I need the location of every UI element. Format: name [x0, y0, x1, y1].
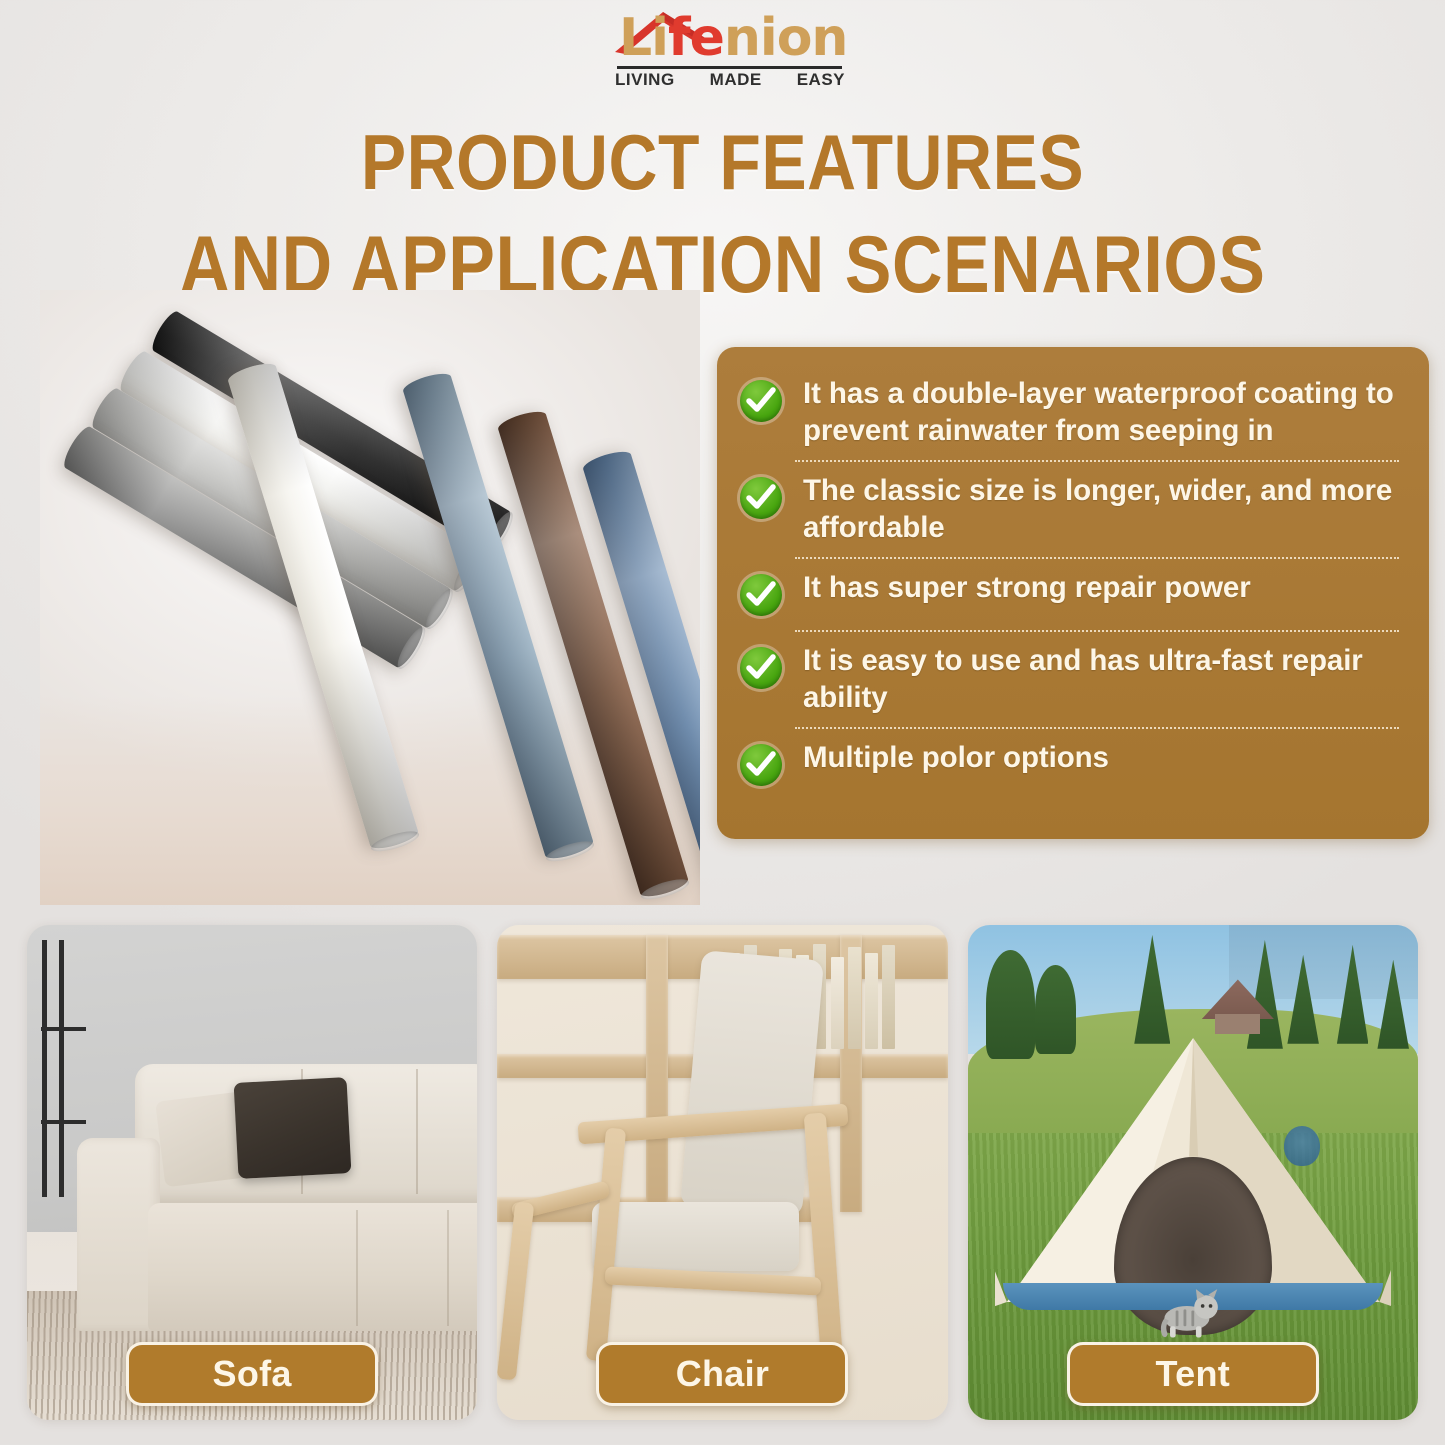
- brand-logo: Lifenion LIVING MADE EASY: [595, 4, 860, 100]
- logo-letters-nion: nion: [724, 8, 848, 68]
- tagline-word-1: LIVING: [615, 70, 675, 90]
- feature-item: It has super strong repair power: [735, 557, 1405, 630]
- feature-item: Multiple polor options: [735, 727, 1405, 800]
- scene-card-tent: Tent: [968, 925, 1418, 1420]
- logo-letter-l: L: [619, 8, 651, 68]
- scene-label-chair: Chair: [596, 1342, 848, 1406]
- check-icon: [737, 474, 785, 522]
- feature-text: It has super strong repair power: [803, 568, 1251, 606]
- scene-card-sofa: Sofa: [27, 925, 477, 1420]
- logo-divider: [617, 66, 842, 69]
- logo-letter-i: i: [651, 8, 668, 68]
- feature-item: It has a double-layer waterproof coating…: [735, 363, 1405, 460]
- logo-letters-fe: fe: [668, 8, 724, 68]
- logo-text: Lifenion: [619, 10, 847, 66]
- tagline-word-3: EASY: [797, 70, 845, 90]
- feature-item: The classic size is longer, wider, and m…: [735, 460, 1405, 557]
- chair-backrest: [680, 950, 824, 1217]
- title-line-1: PRODUCT FEATURES: [0, 118, 1445, 206]
- dark-throw-pillow: [233, 1077, 351, 1179]
- cat: [1152, 1272, 1220, 1351]
- check-icon: [737, 571, 785, 619]
- tagline-word-2: MADE: [710, 70, 762, 90]
- feature-text: The classic size is longer, wider, and m…: [803, 471, 1401, 546]
- application-scenes: Sofa: [27, 925, 1418, 1420]
- check-icon: [737, 644, 785, 692]
- feature-item: It is easy to use and has ultra-fast rep…: [735, 630, 1405, 727]
- chair-rear-leg: [803, 1113, 843, 1381]
- feature-text: It is easy to use and has ultra-fast rep…: [803, 641, 1401, 716]
- chair-left-leg: [497, 1202, 534, 1381]
- check-icon: [737, 741, 785, 789]
- cabin-wall: [1215, 1014, 1260, 1034]
- scene-card-chair: Chair: [497, 925, 947, 1420]
- scene-label-sofa: Sofa: [126, 1342, 378, 1406]
- features-panel: It has a double-layer waterproof coating…: [717, 347, 1429, 839]
- scene-label-tent: Tent: [1067, 1342, 1319, 1406]
- product-photo: [40, 290, 700, 905]
- check-icon: [737, 377, 785, 425]
- feature-text: It has a double-layer waterproof coating…: [803, 374, 1401, 449]
- page-title: PRODUCT FEATURES AND APPLICATION SCENARI…: [0, 118, 1445, 292]
- feature-text: Multiple polor options: [803, 738, 1109, 776]
- logo-tagline: LIVING MADE EASY: [615, 70, 845, 90]
- chair-seat: [592, 1202, 799, 1271]
- tent-brand-badge: [1284, 1126, 1320, 1166]
- sofa-furniture: [77, 1064, 478, 1331]
- logo-wordmark: Lifenion: [595, 6, 860, 70]
